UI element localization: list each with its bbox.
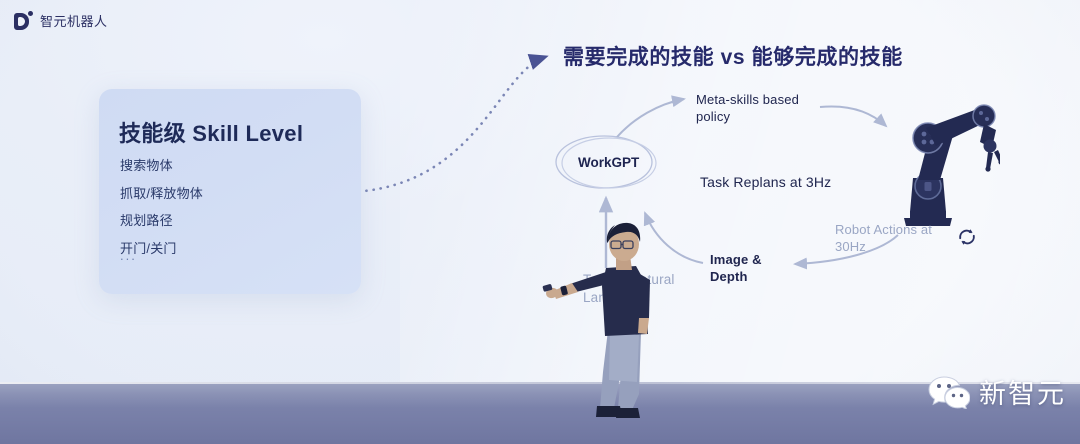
skill-card-ellipsis: ... bbox=[120, 248, 137, 263]
brand-logo: 智元机器人 bbox=[14, 11, 108, 30]
watermark: 新智元 bbox=[928, 372, 1066, 411]
skill-card-list: 搜索物体 抓取/释放物体 规划路径 开门/关门 bbox=[120, 155, 203, 257]
refresh-cycle-icon bbox=[956, 226, 978, 248]
brand-name: 智元机器人 bbox=[40, 11, 108, 30]
robot-arm-icon bbox=[880, 100, 1000, 230]
label-task-replans: Task Replans at 3Hz bbox=[700, 173, 831, 191]
watermark-text: 新智元 bbox=[979, 372, 1066, 411]
workgpt-node-label: WorkGPT bbox=[578, 155, 639, 170]
zhiyuan-robot-logo-icon bbox=[14, 11, 33, 30]
slide-headline: 需要完成的技能 vs 能够完成的技能 bbox=[563, 41, 903, 71]
speaker-person bbox=[540, 222, 670, 430]
arrow-to-meta-policy bbox=[617, 99, 684, 137]
wechat-icon bbox=[928, 375, 970, 409]
label-robot-actions: Robot Actions at 30Hz bbox=[835, 221, 932, 255]
list-item: 抓取/释放物体 bbox=[120, 183, 203, 202]
label-meta-skills-policy: Meta-skills based policy bbox=[696, 91, 799, 125]
skill-card-title: 技能级 Skill Level bbox=[119, 116, 303, 148]
list-item: 规划路径 bbox=[120, 210, 203, 229]
list-item: 搜索物体 bbox=[120, 155, 203, 174]
arrow-to-robot bbox=[820, 106, 886, 126]
label-image-depth: Image & Depth bbox=[710, 251, 762, 285]
skill-level-card: 技能级 Skill Level 搜索物体 抓取/释放物体 规划路径 开门/关门 … bbox=[99, 89, 361, 294]
presentation-screenshot: 智元机器人 技能级 Skill Level 搜索物体 抓取/释放物体 规划路径 … bbox=[0, 0, 1080, 444]
dotted-pointer-arrow bbox=[352, 57, 545, 192]
